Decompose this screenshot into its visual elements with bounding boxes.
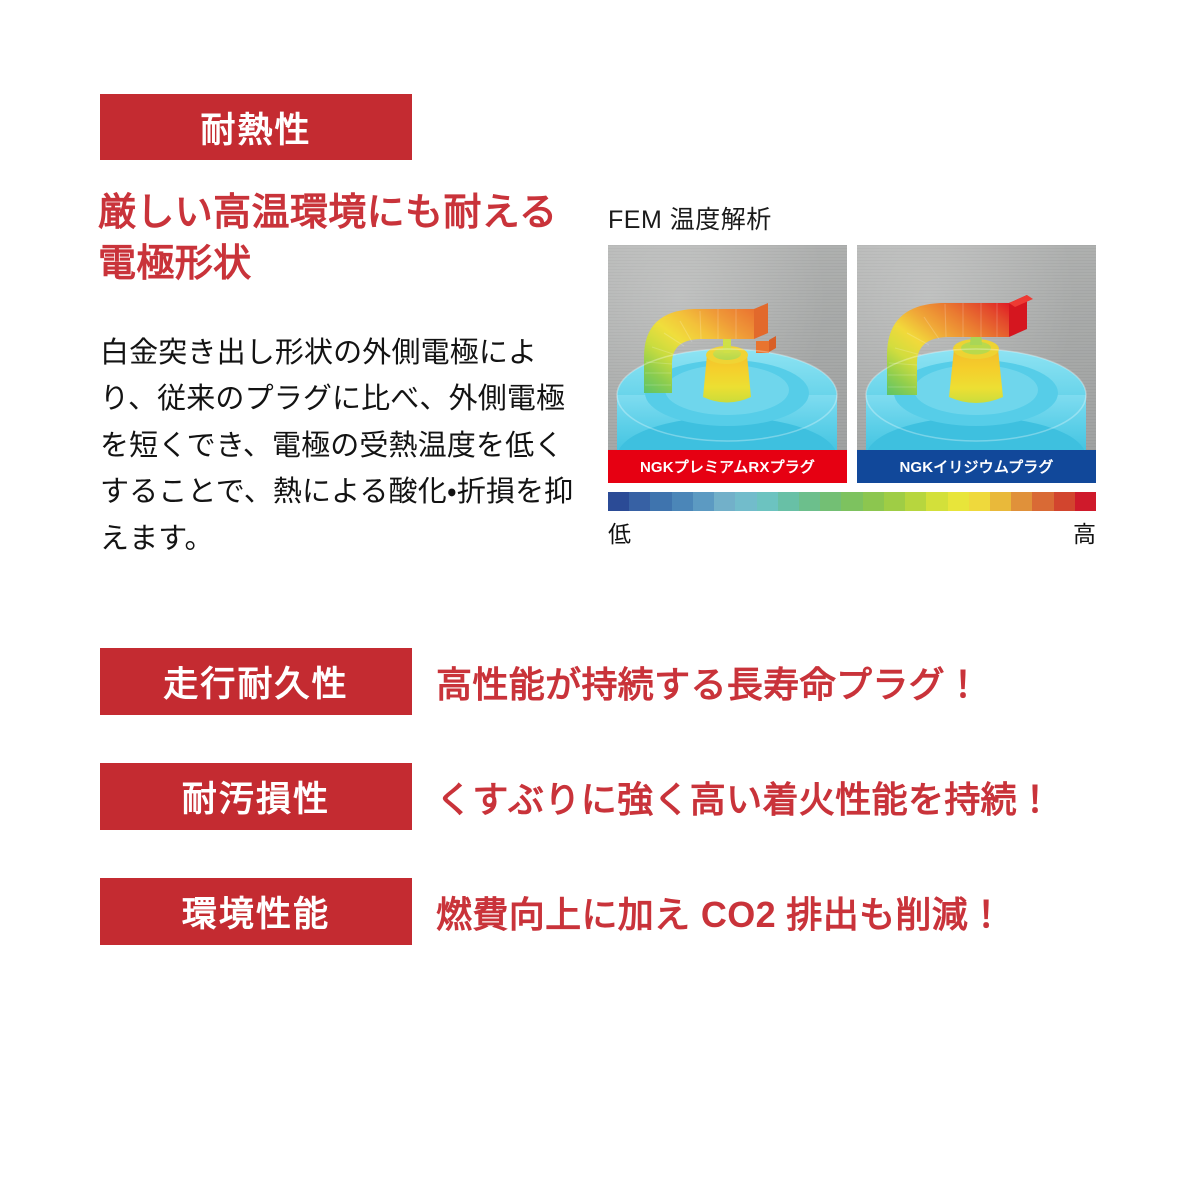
scale-segment-4 — [693, 492, 714, 511]
feature-text-environmental-performance: 燃費向上に加え CO2 排出も削減！ — [436, 886, 1005, 938]
headline-line-2: 電極形状 — [98, 239, 568, 290]
temperature-scale: 低 高 — [608, 492, 1096, 549]
section-headline: 厳しい高温環境にも耐える 電極形状 — [98, 188, 568, 289]
scale-segment-2 — [650, 492, 671, 511]
fem-thermal-render-iridium — [857, 245, 1096, 483]
scale-segment-19 — [1011, 492, 1032, 511]
feature-row-environmental-performance: 環境性能 燃費向上に加え CO2 排出も削減！ — [100, 878, 1100, 945]
fem-panel-premium-rx: NGKプレミアムRXプラグ — [608, 245, 847, 483]
scale-segment-15 — [926, 492, 947, 511]
feature-text-fouling-resistance: くすぶりに強く高い着火性能を持続！ — [436, 771, 1053, 823]
scale-segment-14 — [905, 492, 926, 511]
fem-caption-premium-rx: NGKプレミアムRXプラグ — [608, 450, 847, 483]
feature-row-driving-durability: 走行耐久性 高性能が持続する長寿命プラグ！ — [100, 648, 1100, 715]
scale-segment-10 — [820, 492, 841, 511]
scale-segment-13 — [884, 492, 905, 511]
scale-segment-20 — [1032, 492, 1053, 511]
section-body-text: 白金突き出し形状の外側電極により、従来のプラグに比べ、外側電極を短くでき、電極の… — [100, 330, 580, 562]
feature-text-driving-durability: 高性能が持続する長寿命プラグ！ — [436, 656, 981, 708]
feature-badge-fouling-resistance: 耐汚損性 — [100, 763, 412, 830]
fem-panel-group: NGKプレミアムRXプラグ — [608, 245, 1096, 483]
temperature-scale-labels: 低 高 — [608, 515, 1096, 549]
scale-segment-18 — [990, 492, 1011, 511]
scale-label-high: 高 — [1073, 515, 1096, 549]
page-root: 耐熱性 厳しい高温環境にも耐える 電極形状 白金突き出し形状の外側電極により、従… — [0, 0, 1200, 1200]
scale-segment-6 — [735, 492, 756, 511]
temperature-color-bar — [608, 492, 1096, 511]
fem-title: FEM 温度解析 — [608, 200, 1096, 236]
scale-segment-11 — [841, 492, 862, 511]
feature-badge-driving-durability: 走行耐久性 — [100, 648, 412, 715]
fem-analysis-block: FEM 温度解析 — [608, 200, 1096, 549]
scale-segment-1 — [629, 492, 650, 511]
scale-segment-0 — [608, 492, 629, 511]
headline-line-1: 厳しい高温環境にも耐える — [98, 188, 568, 239]
feature-row-fouling-resistance: 耐汚損性 くすぶりに強く高い着火性能を持続！ — [100, 763, 1100, 830]
scale-segment-3 — [672, 492, 693, 511]
scale-segment-5 — [714, 492, 735, 511]
scale-segment-8 — [778, 492, 799, 511]
fem-thermal-render-premium-rx — [608, 245, 847, 483]
scale-segment-17 — [969, 492, 990, 511]
scale-segment-22 — [1075, 492, 1096, 511]
feature-badge-environmental-performance: 環境性能 — [100, 878, 412, 945]
scale-segment-9 — [799, 492, 820, 511]
fem-panel-iridium: NGKイリジウムプラグ — [857, 245, 1096, 483]
scale-segment-12 — [863, 492, 884, 511]
section-badge-heat-resistance: 耐熱性 — [100, 94, 412, 160]
fem-caption-iridium: NGKイリジウムプラグ — [857, 450, 1096, 483]
scale-label-low: 低 — [608, 515, 631, 549]
scale-segment-7 — [757, 492, 778, 511]
scale-segment-16 — [948, 492, 969, 511]
scale-segment-21 — [1054, 492, 1075, 511]
